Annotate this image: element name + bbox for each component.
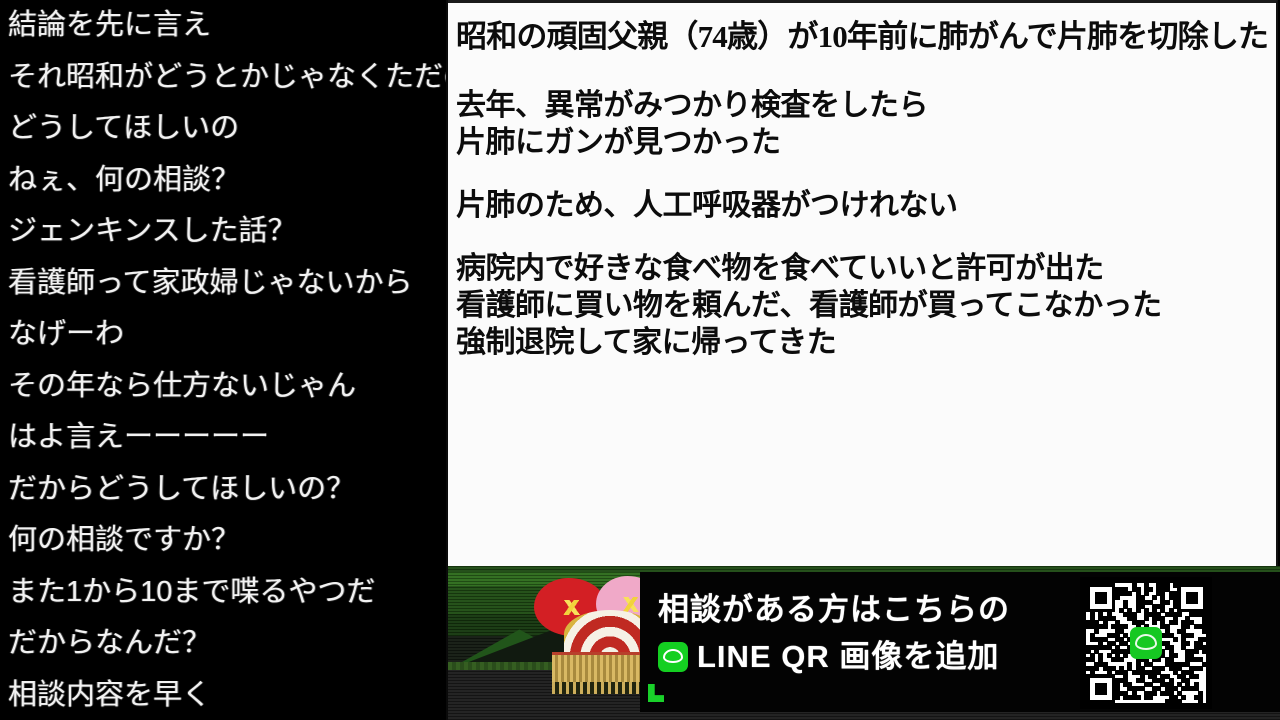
article-paragraph-line: 去年、異常がみつかり検査をしたら — [456, 87, 1274, 124]
line-app-icon — [658, 642, 688, 672]
article-spacer — [456, 57, 1274, 87]
video-frame: 結論を先に言え それ昭和がどうとかじゃなくただの どうしてほしいの ねぇ、何の相… — [0, 0, 1280, 720]
flower-stamen — [620, 597, 642, 612]
article-paragraph-line: 病院内で好きな食べ物を食べていいと許可が出た — [456, 250, 1274, 287]
qr-module — [1173, 637, 1178, 642]
comment-line: だからどうしてほしいの？ — [0, 464, 446, 516]
qr-module — [1202, 629, 1207, 634]
green-corner-marker — [648, 684, 664, 702]
qr-module — [1115, 595, 1120, 600]
qr-finder-pattern — [1086, 583, 1115, 612]
article-panel: 昭和の頑固父親（74歳）が10年前に肺がんで片肺を切除した 去年、異常がみつかり… — [448, 0, 1278, 566]
qr-module — [1115, 695, 1120, 700]
article-spacer — [456, 161, 1274, 187]
article-paragraph-line: 強制退院して家に帰ってきた — [456, 324, 1274, 361]
qr-code-canvas — [1086, 583, 1206, 703]
comment-list: 結論を先に言え それ昭和がどうとかじゃなくただの どうしてほしいの ねぇ、何の相… — [0, 0, 446, 720]
comment-line: 相談内容を早く — [0, 670, 446, 720]
qr-module — [1177, 699, 1182, 704]
qr-module — [1103, 624, 1108, 629]
qr-module — [1148, 695, 1153, 700]
article-spacer — [456, 224, 1274, 250]
comment-line: ジェンキンスした話？ — [0, 206, 446, 258]
article-paragraph-line: 看護師に買い物を頼んだ、看護師が買ってこなかった — [456, 287, 1274, 324]
comment-line: 看護師って家政婦じゃないから — [0, 258, 446, 310]
qr-finder-pattern — [1177, 583, 1206, 612]
comment-line: どうしてほしいの — [0, 103, 446, 155]
article-body: 昭和の頑固父親（74歳）が10年前に肺がんで片肺を切除した 去年、異常がみつかり… — [456, 17, 1274, 361]
article-paragraph-line: 片肺のため、人工呼吸器がつけれない — [456, 187, 1274, 224]
article-paragraph-line: 片肺にガンが見つかった — [456, 124, 1274, 161]
qr-module — [1202, 649, 1207, 654]
qr-code[interactable] — [1080, 577, 1212, 709]
qr-module — [1198, 699, 1203, 704]
qr-module — [1127, 591, 1132, 596]
qr-finder-pattern — [1086, 674, 1115, 703]
banner-cta-label: LINE QR 画像を追加 — [697, 633, 999, 680]
qr-module — [1173, 620, 1178, 625]
qr-module — [1194, 674, 1199, 679]
qr-module — [1119, 657, 1124, 662]
qr-module — [1136, 695, 1141, 700]
comment-line: なげーわ — [0, 309, 446, 361]
qr-module — [1198, 666, 1203, 671]
comment-line: 何の相談ですか？ — [0, 515, 446, 567]
banner-cta: LINE QR 画像を追加 — [658, 633, 1058, 680]
comment-line: また1から10まで喋るやつだ — [0, 567, 446, 619]
qr-module — [1189, 633, 1194, 638]
comment-line: その年なら仕方ないじゃん — [0, 361, 446, 413]
article-headline: 昭和の頑固父親（74歳）が10年前に肺がんで片肺を切除した — [456, 17, 1274, 57]
bottom-banner: 相談がある方はこちらの LINE QR 画像を追加 — [448, 566, 1280, 720]
comment-line: ねぇ、何の相談？ — [0, 155, 446, 207]
banner-headline-label: 相談がある方はこちらの — [658, 586, 1010, 633]
qr-module — [1152, 620, 1157, 625]
comment-line: はよ言えーーーーー — [0, 412, 446, 464]
comment-stream-panel: 結論を先に言え それ昭和がどうとかじゃなくただの どうしてほしいの ねぇ、何の相… — [0, 0, 446, 720]
comment-line: それ昭和がどうとかじゃなくただの — [0, 52, 446, 104]
line-logo-icon — [1130, 627, 1162, 659]
line-qr-overlay-card: 相談がある方はこちらの LINE QR 画像を追加 — [640, 572, 1280, 712]
banner-headline: 相談がある方はこちらの — [658, 586, 1058, 633]
flower-stamen — [560, 600, 584, 615]
comment-line: 結論を先に言え — [0, 0, 446, 52]
comment-line: だからなんだ？ — [0, 618, 446, 670]
overlay-text-block: 相談がある方はこちらの LINE QR 画像を追加 — [658, 586, 1058, 680]
